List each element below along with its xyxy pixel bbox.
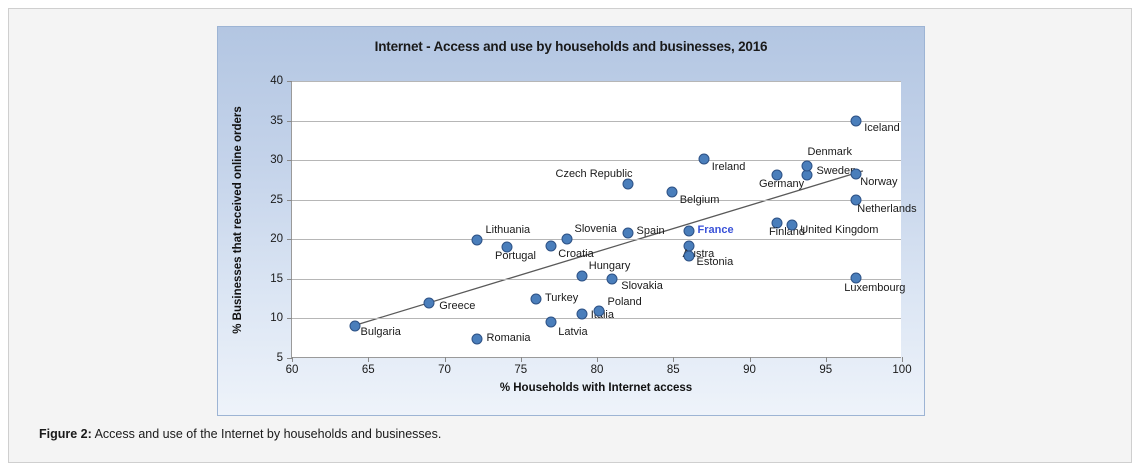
y-gridline — [292, 239, 901, 240]
x-tick-mark — [445, 357, 446, 362]
data-point-label: Luxembourg — [844, 282, 905, 294]
y-gridline — [292, 121, 901, 122]
y-gridline — [292, 279, 901, 280]
x-tick-label: 65 — [362, 364, 375, 376]
y-tick-label: 5 — [277, 352, 283, 364]
y-tick-mark — [287, 200, 292, 201]
data-point[interactable] — [607, 273, 618, 284]
data-point-label: Poland — [608, 296, 642, 308]
data-point[interactable] — [561, 234, 572, 245]
y-tick-mark — [287, 279, 292, 280]
x-tick-mark — [521, 357, 522, 362]
data-point[interactable] — [531, 293, 542, 304]
data-point-label: Slovenia — [575, 223, 617, 235]
x-tick-label: 70 — [438, 364, 451, 376]
x-tick-label: 80 — [591, 364, 604, 376]
data-point[interactable] — [787, 220, 798, 231]
x-axis-title: % Households with Internet access — [291, 382, 901, 394]
data-point[interactable] — [622, 178, 633, 189]
x-tick-label: 100 — [892, 364, 911, 376]
x-tick-mark — [826, 357, 827, 362]
data-point[interactable] — [683, 250, 694, 261]
data-point-label: Latvia — [558, 326, 587, 338]
data-point-label: Czech Republic — [556, 168, 633, 180]
x-tick-label: 60 — [286, 364, 299, 376]
y-tick-mark — [287, 81, 292, 82]
data-point[interactable] — [593, 305, 604, 316]
x-tick-mark — [750, 357, 751, 362]
data-point-label: United Kingdom — [800, 224, 878, 236]
y-gridline — [292, 200, 901, 201]
chart-panel: Internet - Access and use by households … — [217, 26, 925, 416]
data-point[interactable] — [576, 271, 587, 282]
y-axis-title: % Businesses that received online orders — [230, 81, 246, 358]
y-tick-mark — [287, 121, 292, 122]
data-point-label: Greece — [439, 300, 475, 312]
data-point-label: Estonia — [697, 256, 734, 268]
figure-card: Internet - Access and use by households … — [8, 8, 1132, 463]
x-tick-label: 85 — [667, 364, 680, 376]
data-point-label: Romania — [487, 332, 531, 344]
x-tick-mark — [292, 357, 293, 362]
data-point[interactable] — [802, 161, 813, 172]
x-tick-label: 95 — [819, 364, 832, 376]
data-point[interactable] — [349, 321, 360, 332]
x-tick-label: 90 — [743, 364, 756, 376]
data-point-label: Germany — [759, 178, 804, 190]
x-tick-mark — [673, 357, 674, 362]
y-tick-label: 35 — [270, 115, 283, 127]
y-tick-label: 30 — [270, 154, 283, 166]
data-point-label: Spain — [637, 225, 665, 237]
x-tick-mark — [368, 357, 369, 362]
data-point[interactable] — [471, 235, 482, 246]
data-point[interactable] — [666, 186, 677, 197]
data-point[interactable] — [546, 316, 557, 327]
figure-caption: Figure 2: Access and use of the Internet… — [39, 427, 441, 441]
chart-title: Internet - Access and use by households … — [218, 39, 924, 54]
data-point-label: Denmark — [807, 146, 852, 158]
data-point-label: Hungary — [589, 260, 631, 272]
data-point[interactable] — [424, 298, 435, 309]
plot-area: 5101520253035406065707580859095100Bulgar… — [291, 81, 901, 358]
y-tick-mark — [287, 318, 292, 319]
data-point-label: Slovakia — [621, 280, 663, 292]
x-tick-label: 75 — [514, 364, 527, 376]
data-point[interactable] — [471, 334, 482, 345]
y-tick-label: 15 — [270, 273, 283, 285]
y-tick-label: 25 — [270, 194, 283, 206]
data-point-label: France — [698, 224, 734, 236]
x-tick-mark — [597, 357, 598, 362]
y-tick-label: 20 — [270, 233, 283, 245]
data-point-label: Croatia — [558, 248, 593, 260]
data-point[interactable] — [546, 241, 557, 252]
y-axis-title-text: % Businesses that received online orders — [232, 106, 244, 334]
data-point-label: Ireland — [712, 161, 746, 173]
x-tick-mark — [902, 357, 903, 362]
data-point[interactable] — [683, 225, 694, 236]
data-point-label: Turkey — [545, 292, 578, 304]
data-point-label: Iceland — [864, 122, 899, 134]
figure-caption-label: Figure 2: — [39, 427, 92, 441]
data-point[interactable] — [576, 309, 587, 320]
y-tick-label: 40 — [270, 75, 283, 87]
y-tick-mark — [287, 160, 292, 161]
data-point-label: Belgium — [680, 194, 720, 206]
data-point[interactable] — [851, 115, 862, 126]
data-point-label: Netherlands — [857, 203, 916, 215]
y-tick-mark — [287, 239, 292, 240]
y-tick-label: 10 — [270, 312, 283, 324]
data-point-label: Portugal — [495, 250, 536, 262]
data-point[interactable] — [698, 154, 709, 165]
data-point[interactable] — [622, 227, 633, 238]
y-gridline — [292, 81, 901, 82]
data-point-label: Lithuania — [486, 224, 531, 236]
data-point-label: Bulgaria — [361, 326, 401, 338]
figure-caption-text: Access and use of the Internet by househ… — [92, 427, 442, 441]
data-point-label: Norway — [860, 176, 897, 188]
